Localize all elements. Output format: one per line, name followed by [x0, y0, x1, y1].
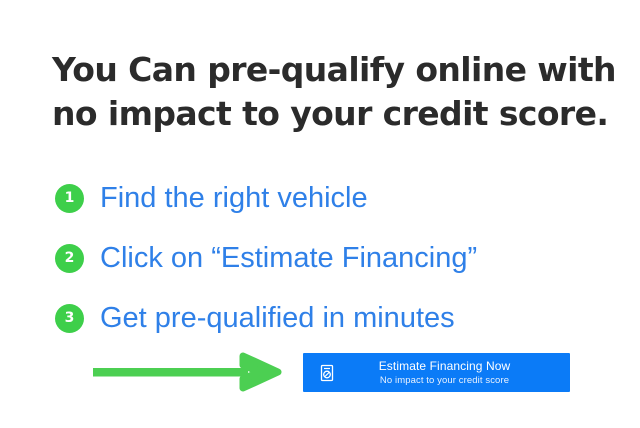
step-number-badge: 2	[55, 244, 84, 273]
list-item: 1 Find the right vehicle	[55, 168, 477, 228]
list-item: 3 Get pre-qualified in minutes	[55, 288, 477, 348]
cta-title: Estimate Financing Now	[337, 360, 552, 372]
headline-line-2: no impact to your credit score.	[52, 92, 592, 136]
list-item: 2 Click on “Estimate Financing”	[55, 228, 477, 288]
estimate-financing-button[interactable]: Estimate Financing Now No impact to your…	[303, 353, 570, 392]
step-label: Find the right vehicle	[100, 181, 368, 215]
cta-subtitle: No impact to your credit score	[337, 376, 552, 386]
cta-text-group: Estimate Financing Now No impact to your…	[337, 360, 570, 386]
steps-list: 1 Find the right vehicle 2 Click on “Est…	[55, 168, 477, 348]
finance-document-icon	[319, 364, 337, 382]
arrow-right-icon	[93, 352, 283, 392]
step-number-badge: 3	[55, 304, 84, 333]
step-label: Click on “Estimate Financing”	[100, 241, 477, 275]
page-title: You Can pre-qualify online with no impac…	[52, 48, 592, 136]
step-label: Get pre-qualified in minutes	[100, 301, 455, 335]
promo-card: You Can pre-qualify online with no impac…	[0, 0, 640, 428]
headline-line-1: You Can pre-qualify online with	[52, 48, 592, 92]
step-number-badge: 1	[55, 184, 84, 213]
